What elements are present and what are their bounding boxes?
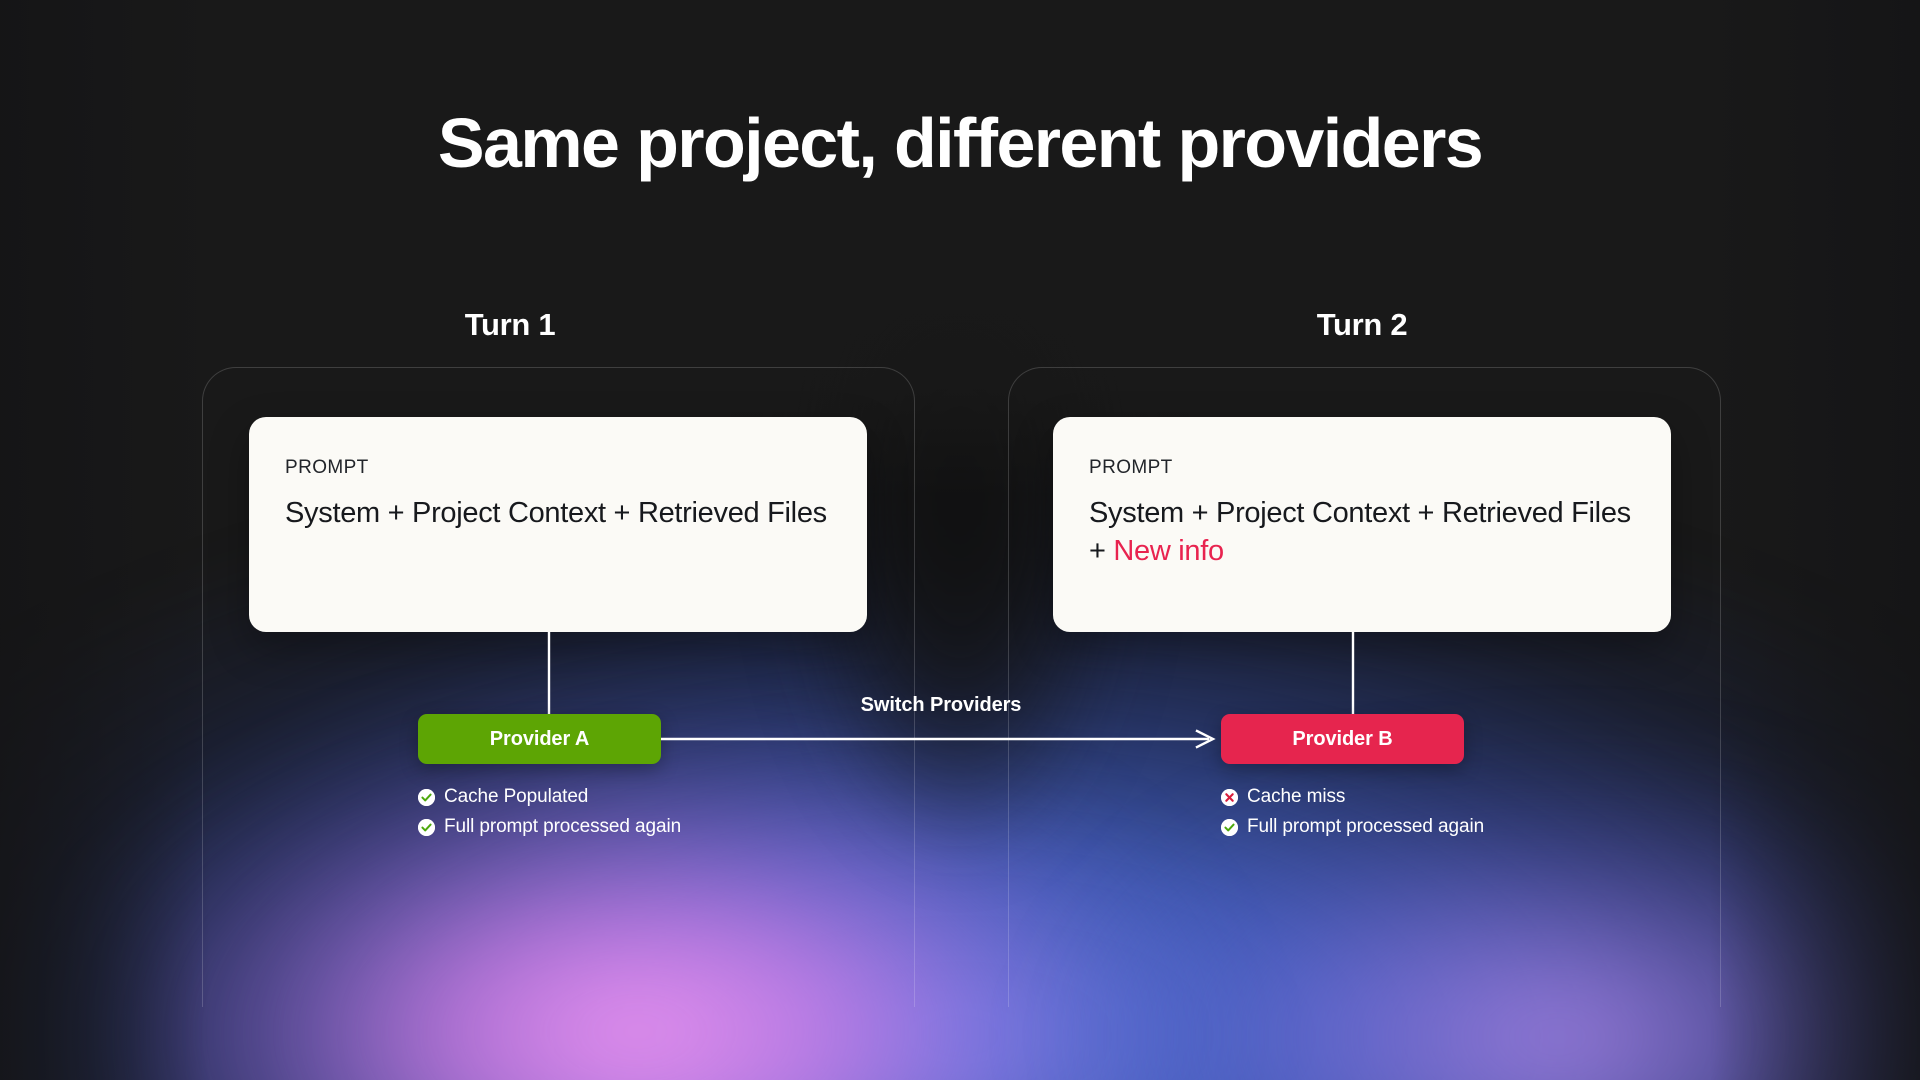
prompt-body-1: System + Project Context + Retrieved Fil… xyxy=(285,495,831,533)
switch-providers-label: Switch Providers xyxy=(661,694,1221,717)
provider-b-button[interactable]: Provider B xyxy=(1221,714,1464,764)
status-list-provider-a: Cache Populated Full prompt processed ag… xyxy=(418,786,681,846)
check-circle-icon xyxy=(1221,819,1238,836)
page-title: Same project, different providers xyxy=(0,108,1920,178)
status-item: Full prompt processed again xyxy=(1221,816,1484,838)
prompt-body-2: System + Project Context + Retrieved Fil… xyxy=(1089,495,1635,570)
turn-label-2: Turn 2 xyxy=(1272,307,1452,343)
prompt-text-1: System + Project Context + Retrieved Fil… xyxy=(285,497,827,529)
status-item: Cache miss xyxy=(1221,786,1484,808)
arrow-switch-providers-icon xyxy=(661,727,1221,751)
provider-a-button[interactable]: Provider A xyxy=(418,714,661,764)
prompt-card-turn-2: PROMPT System + Project Context + Retrie… xyxy=(1053,417,1671,632)
status-label: Full prompt processed again xyxy=(444,816,681,838)
check-circle-icon xyxy=(418,789,435,806)
check-circle-icon xyxy=(418,819,435,836)
x-circle-icon xyxy=(1221,789,1238,806)
prompt-kicker-2: PROMPT xyxy=(1089,457,1635,479)
prompt-highlight-new-info: New info xyxy=(1113,535,1223,567)
status-list-provider-b: Cache miss Full prompt processed again xyxy=(1221,786,1484,846)
turn-label-1: Turn 1 xyxy=(420,307,600,343)
status-label: Full prompt processed again xyxy=(1247,816,1484,838)
status-item: Cache Populated xyxy=(418,786,681,808)
prompt-card-turn-1: PROMPT System + Project Context + Retrie… xyxy=(249,417,867,632)
prompt-kicker-1: PROMPT xyxy=(285,457,831,479)
status-label: Cache Populated xyxy=(444,786,588,808)
status-label: Cache miss xyxy=(1247,786,1345,808)
status-item: Full prompt processed again xyxy=(418,816,681,838)
